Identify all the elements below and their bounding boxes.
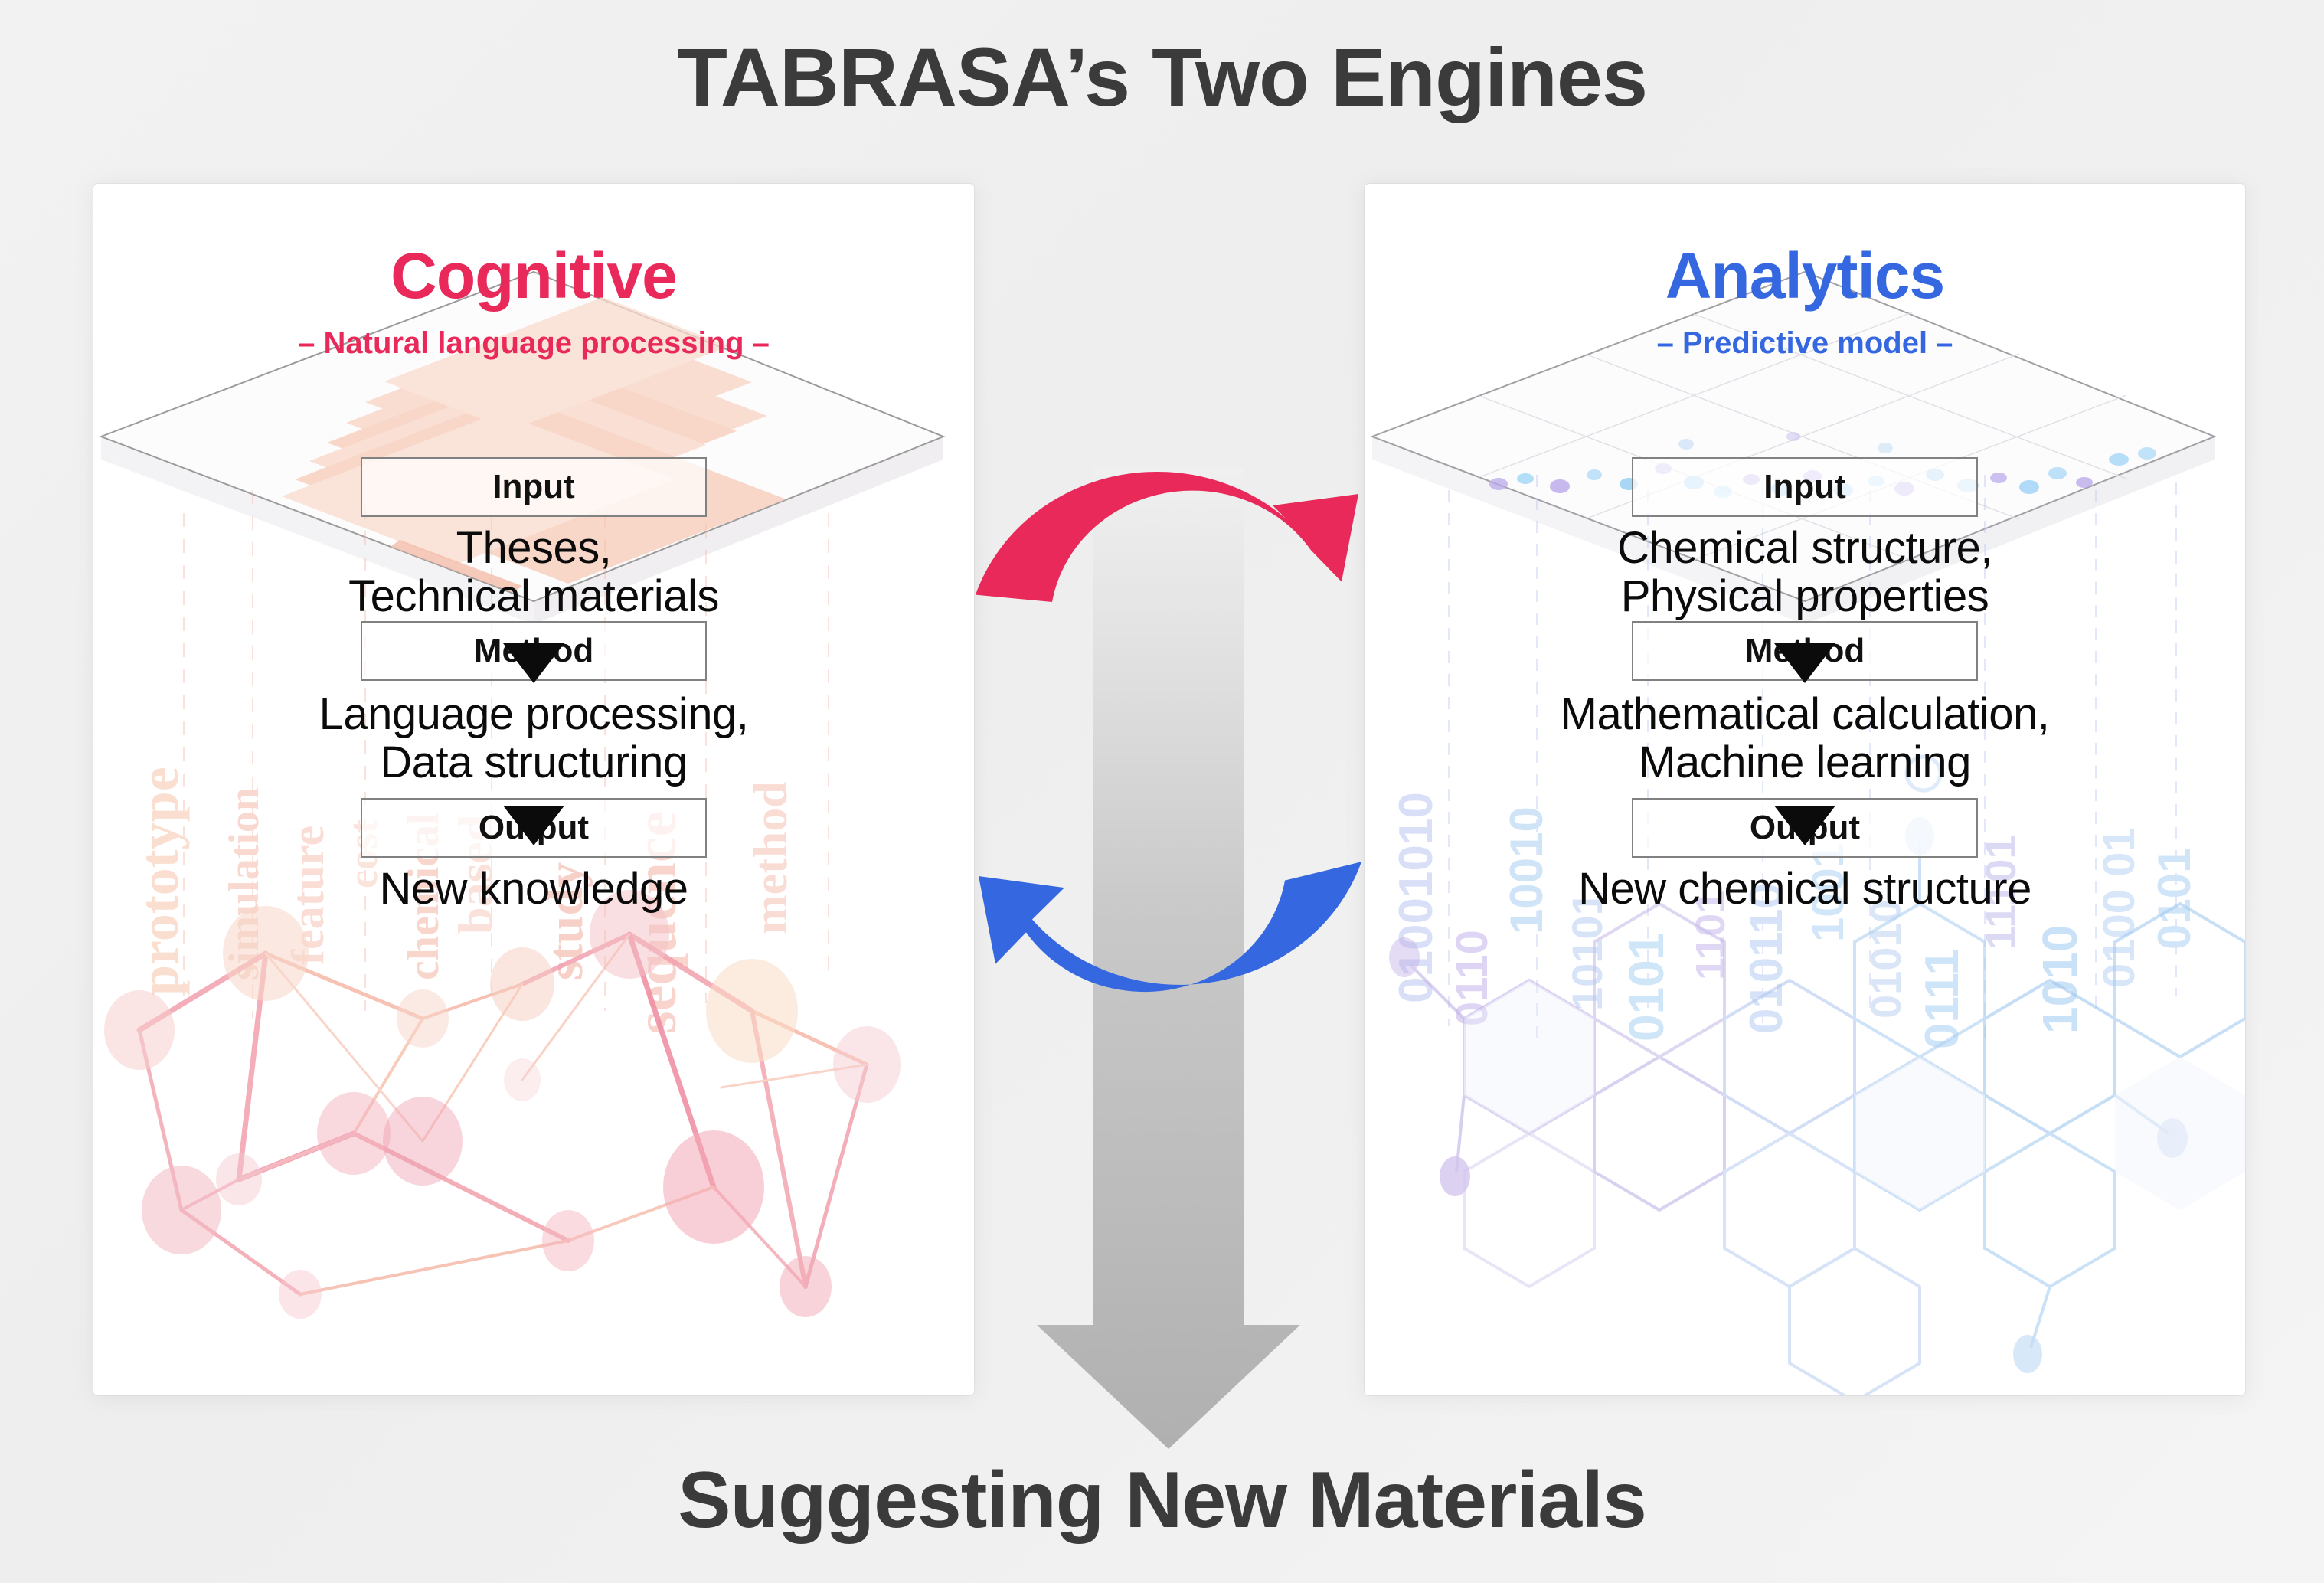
center-cycle-group <box>972 460 1365 1455</box>
stage-label-input: Input <box>361 457 707 517</box>
engine-title-cognitive: Cognitive <box>93 239 974 313</box>
triangle-down-icon <box>503 643 564 683</box>
stage-text-method: Language processing, Data structuring <box>93 691 974 787</box>
triangle-down-icon <box>503 806 564 845</box>
engine-title-analytics: Analytics <box>1365 239 2245 313</box>
stage-text-output: New knowledge <box>93 865 974 914</box>
stage-text-method: Mathematical calculation, Machine learni… <box>1365 691 2245 787</box>
engine-subtitle-cognitive: – Natural language processing – <box>93 326 974 361</box>
engine-card-analytics: 01001010 0110 10010 10101 0101 1101 0101… <box>1365 184 2245 1395</box>
triangle-down-icon <box>1774 643 1835 683</box>
page-title: TABRASA’s Two Engines <box>0 29 2324 125</box>
stage-label-input: Input <box>1632 457 1978 517</box>
triangle-down-icon <box>1774 806 1835 845</box>
stage-text-input: Theses, Technical materials <box>93 525 974 620</box>
footer-title: Suggesting New Materials <box>0 1455 2324 1546</box>
engine-subtitle-analytics: – Predictive model – <box>1365 326 2245 361</box>
stage-text-output: New chemical structure <box>1365 865 2245 914</box>
engine-card-cognitive: prototype simulation feature cost chemic… <box>93 184 974 1395</box>
stage-text-input: Chemical structure, Physical properties <box>1365 525 2245 620</box>
